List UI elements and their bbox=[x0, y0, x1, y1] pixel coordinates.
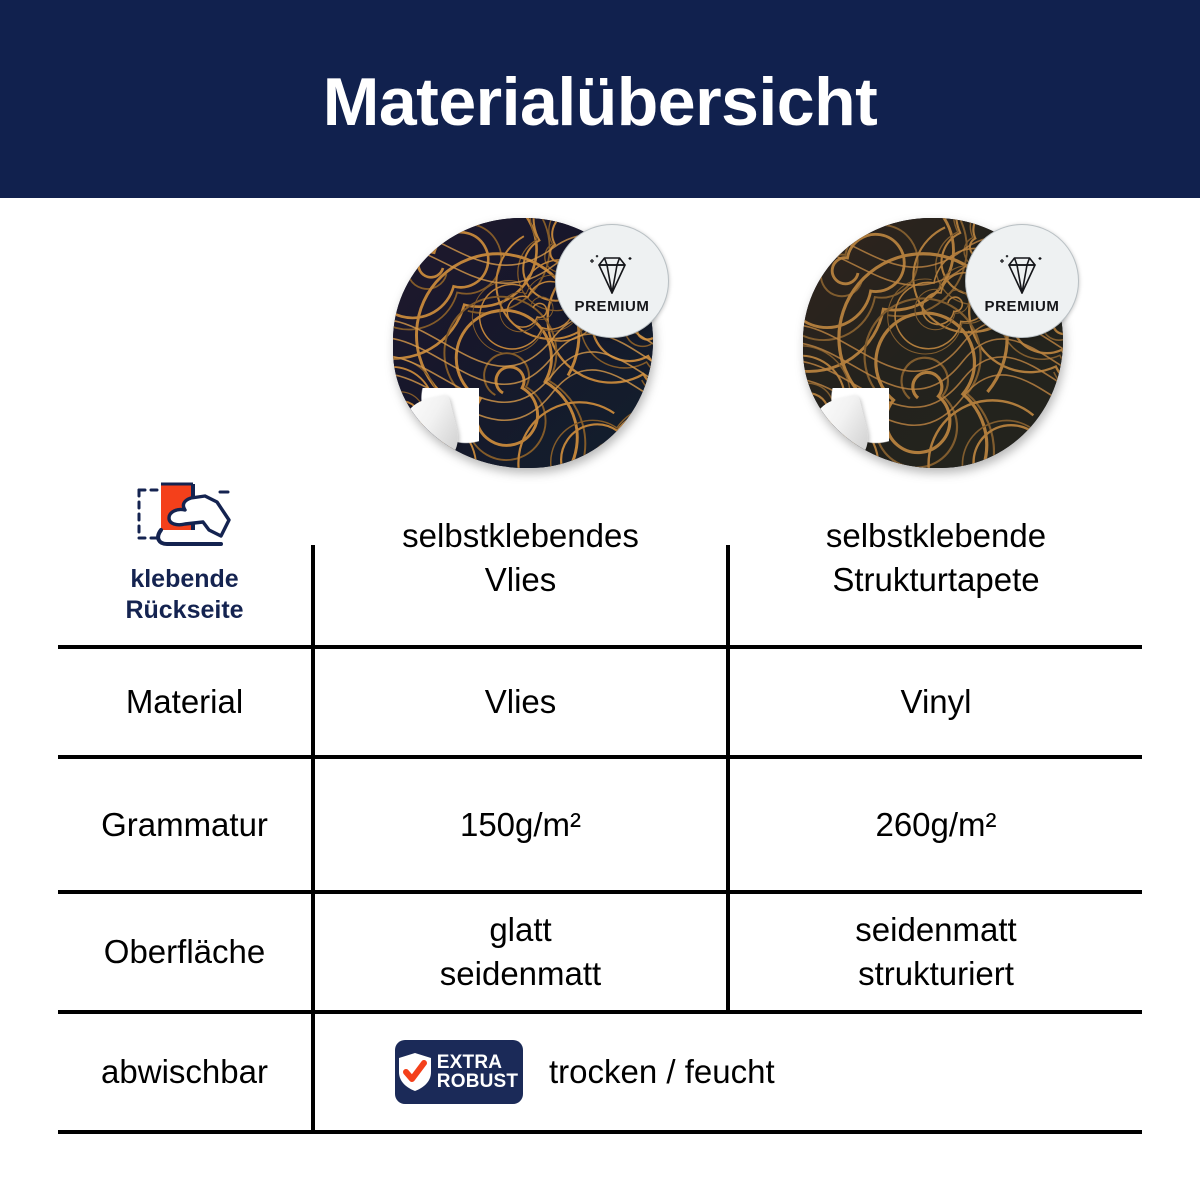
column-header-vlies: selbstklebendes Vlies bbox=[315, 470, 726, 645]
cell-oberflaeche-vlies-line1: glatt bbox=[489, 911, 551, 948]
extra-robust-line1: EXTRA bbox=[437, 1052, 502, 1073]
cell-oberflaeche-vinyl-line1: seidenmatt bbox=[855, 911, 1016, 948]
adhesive-backing-label: klebende Rückseite bbox=[125, 564, 243, 627]
cell-grammatur-vinyl: 260g/m² bbox=[730, 759, 1142, 890]
premium-badge-label: PREMIUM bbox=[574, 298, 649, 315]
page-header: Materialübersicht bbox=[0, 0, 1200, 198]
premium-badge: PREMIUM bbox=[965, 224, 1079, 338]
extra-robust-badge: EXTRA ROBUST bbox=[395, 1040, 523, 1104]
column-header-struktur-line1: selbstklebende bbox=[826, 517, 1046, 554]
adhesive-label-line2: Rückseite bbox=[125, 596, 243, 624]
extra-robust-badge-label: EXTRA ROBUST bbox=[437, 1053, 518, 1092]
adhesive-label-line1: klebende bbox=[130, 565, 238, 593]
cell-material-vinyl: Vinyl bbox=[730, 649, 1142, 755]
row-label-grammatur: Grammatur bbox=[58, 759, 311, 890]
extra-robust-line2: ROBUST bbox=[437, 1071, 518, 1092]
column-header-struktur-line2: Strukturtapete bbox=[832, 561, 1039, 598]
premium-badge: PREMIUM bbox=[555, 224, 669, 338]
adhesive-backing-cell: klebende Rückseite bbox=[58, 470, 311, 645]
abwischbar-value-text: trocken / feucht bbox=[549, 1053, 775, 1091]
row-label-abwischbar: abwischbar bbox=[58, 1014, 311, 1130]
table-rule bbox=[58, 1130, 1142, 1134]
product-swatch-vlies[interactable]: PREMIUM bbox=[385, 208, 675, 478]
diamond-icon bbox=[995, 253, 1049, 297]
row-label-oberflaeche: Oberfläche bbox=[58, 894, 311, 1010]
product-swatch-row: PREMIUM bbox=[0, 200, 1200, 480]
column-header-vlies-line2: Vlies bbox=[485, 561, 557, 598]
column-header-vlies-line1: selbstklebendes bbox=[402, 517, 639, 554]
shield-check-icon bbox=[398, 1052, 432, 1092]
cell-oberflaeche-vlies-line2: seidenmatt bbox=[440, 955, 601, 992]
peel-adhesive-backing-icon bbox=[125, 478, 245, 556]
product-swatch-strukturtapete[interactable]: PREMIUM bbox=[795, 208, 1085, 478]
row-label-material: Material bbox=[58, 649, 311, 755]
cell-oberflaeche-vlies: glatt seidenmatt bbox=[315, 894, 726, 1010]
column-header-strukturtapete: selbstklebende Strukturtapete bbox=[730, 470, 1142, 645]
diamond-icon bbox=[585, 253, 639, 297]
premium-badge-label: PREMIUM bbox=[984, 298, 1059, 315]
material-comparison-table: klebende Rückseite selbstklebendes Vlies… bbox=[58, 470, 1142, 1132]
cell-oberflaeche-vinyl-line2: strukturiert bbox=[858, 955, 1014, 992]
material-overview-page: Materialübersicht bbox=[0, 0, 1200, 1200]
page-title: Materialübersicht bbox=[323, 68, 878, 136]
cell-oberflaeche-vinyl: seidenmatt strukturiert bbox=[730, 894, 1142, 1010]
cell-grammatur-vlies: 150g/m² bbox=[315, 759, 726, 890]
cell-material-vlies: Vlies bbox=[315, 649, 726, 755]
cell-abwischbar-value: EXTRA ROBUST trocken / feucht bbox=[315, 1014, 1142, 1130]
